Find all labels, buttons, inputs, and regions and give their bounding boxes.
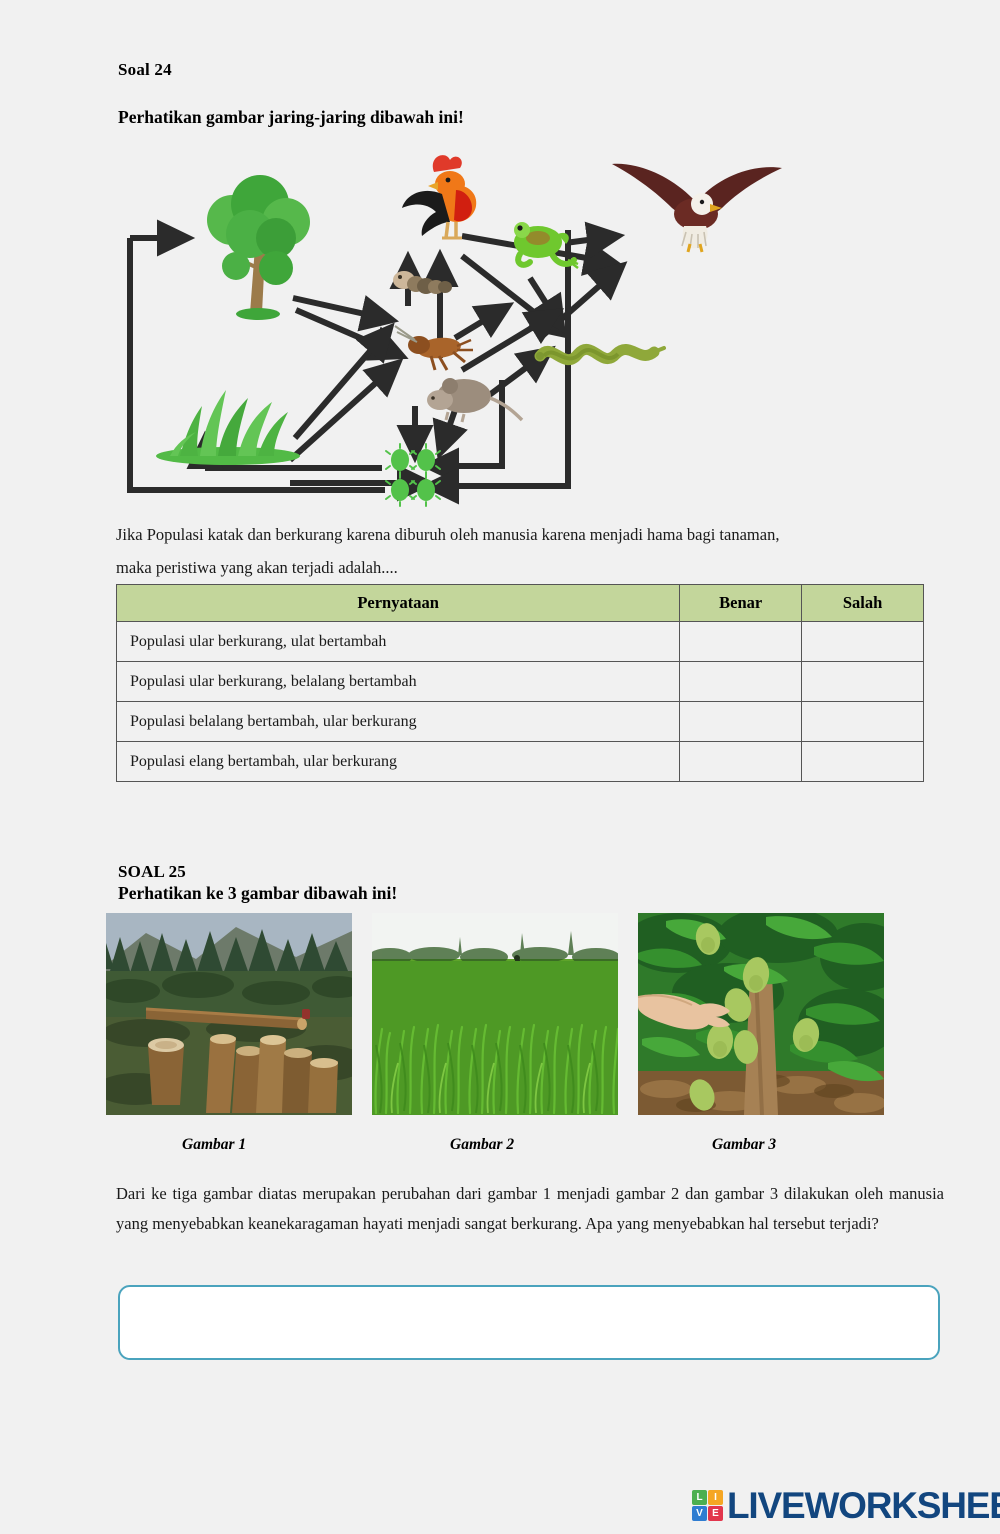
statement-text: Populasi ular berkurang, ulat bertambah	[117, 622, 680, 662]
table-row: Populasi belalang bertambah, ular berkur…	[117, 702, 924, 742]
soal-24-question-line-1: Jika Populasi katak dan berkurang karena…	[116, 518, 936, 552]
statement-text: Populasi elang bertambah, ular berkurang	[117, 742, 680, 782]
gambar-1-caption: Gambar 1	[182, 1136, 246, 1154]
answer-cell-benar[interactable]	[680, 702, 802, 742]
gambar-2-caption: Gambar 2	[450, 1136, 514, 1154]
gambar-1-image	[106, 913, 352, 1115]
gambar-3-image	[638, 913, 884, 1115]
logo-tile-l: L	[692, 1490, 707, 1505]
answer-input-value[interactable]	[120, 1287, 938, 1358]
food-web-diagram	[110, 138, 810, 508]
answer-cell-salah[interactable]	[802, 622, 924, 662]
gambar-3-caption: Gambar 3	[712, 1136, 776, 1154]
logo-tile-v: V	[692, 1506, 707, 1521]
liveworksheets-logo: L I V E LIVEWORKSHEETS	[692, 1487, 1000, 1524]
table-row: Populasi elang bertambah, ular berkurang	[117, 742, 924, 782]
logo-tiles: L I V E	[692, 1490, 723, 1521]
answer-input-box[interactable]	[118, 1285, 940, 1360]
answer-cell-salah[interactable]	[802, 702, 924, 742]
answer-cell-salah[interactable]	[802, 662, 924, 702]
table-header-row: Pernyataan Benar Salah	[117, 585, 924, 622]
logo-tile-e: E	[708, 1506, 723, 1521]
statement-text: Populasi belalang bertambah, ular berkur…	[117, 702, 680, 742]
statement-table: Pernyataan Benar Salah Populasi ular ber…	[116, 584, 924, 782]
statement-text: Populasi ular berkurang, belalang bertam…	[117, 662, 680, 702]
soal-25-paragraph: Dari ke tiga gambar diatas merupakan per…	[116, 1179, 944, 1239]
answer-cell-benar[interactable]	[680, 662, 802, 702]
soal-24-question-line-2: maka peristiwa yang akan terjadi adalah.…	[116, 551, 936, 585]
answer-cell-salah[interactable]	[802, 742, 924, 782]
soal-25-heading: SOAL 25	[118, 862, 186, 882]
column-header-benar: Benar	[680, 585, 802, 622]
logo-tile-i: I	[708, 1490, 723, 1505]
gambar-2-image	[372, 913, 618, 1115]
soal-24-heading: Soal 24	[118, 60, 172, 80]
soal-25-instruction: Perhatikan ke 3 gambar dibawah ini!	[118, 883, 397, 904]
answer-cell-benar[interactable]	[680, 622, 802, 662]
soal-24-instruction: Perhatikan gambar jaring-jaring dibawah …	[118, 107, 464, 128]
answer-cell-benar[interactable]	[680, 742, 802, 782]
column-header-pernyataan: Pernyataan	[117, 585, 680, 622]
column-header-salah: Salah	[802, 585, 924, 622]
worksheet-page: Soal 24 Perhatikan gambar jaring-jaring …	[0, 0, 1000, 1534]
table-row: Populasi ular berkurang, ulat bertambah	[117, 622, 924, 662]
logo-wordmark: LIVEWORKSHEETS	[727, 1487, 1000, 1524]
table-row: Populasi ular berkurang, belalang bertam…	[117, 662, 924, 702]
